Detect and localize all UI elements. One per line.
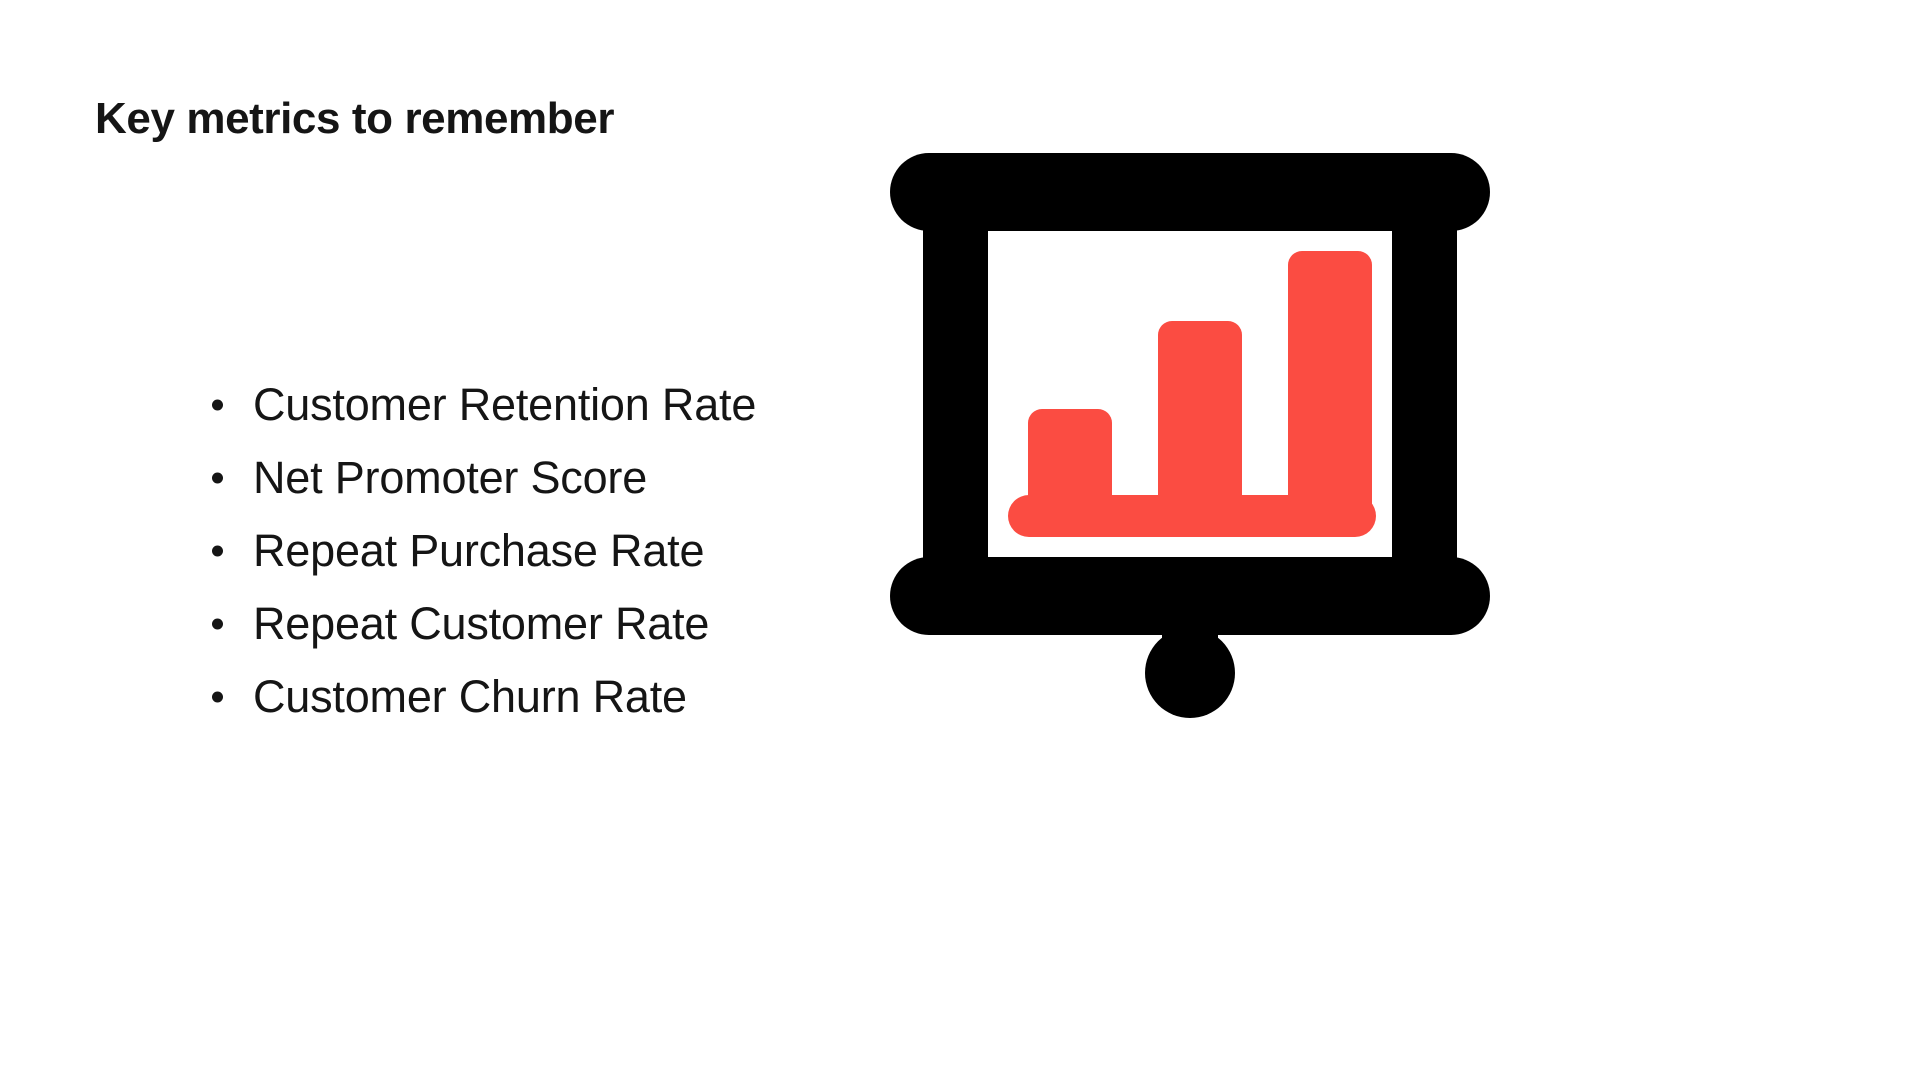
list-item-label: Repeat Customer Rate: [253, 587, 709, 660]
bullet-dot-icon: [212, 691, 223, 702]
list-item: Customer Retention Rate: [205, 368, 756, 441]
chart-bar-1: [1028, 409, 1112, 519]
screen-top-rail: [890, 153, 1490, 231]
list-item: Repeat Customer Rate: [205, 587, 756, 660]
bullet-dot-icon: [212, 472, 223, 483]
bullet-dot-icon: [212, 399, 223, 410]
list-item-label: Customer Retention Rate: [253, 368, 756, 441]
slide-canvas: Key metrics to remember Customer Retenti…: [0, 0, 1920, 1080]
page-title: Key metrics to remember: [95, 95, 614, 143]
list-item-label: Customer Churn Rate: [253, 660, 687, 733]
list-item: Customer Churn Rate: [205, 660, 756, 733]
key-metrics-list: Customer Retention Rate Net Promoter Sco…: [205, 368, 756, 733]
chart-bar-2: [1158, 321, 1242, 519]
stand-foot-knob: [1145, 628, 1235, 718]
list-item: Repeat Purchase Rate: [205, 514, 756, 587]
chart-bar-3: [1288, 251, 1372, 519]
presentation-screen-bar-chart-icon: [890, 145, 1490, 725]
list-item-label: Net Promoter Score: [253, 441, 647, 514]
list-item-label: Repeat Purchase Rate: [253, 514, 704, 587]
bullet-dot-icon: [212, 545, 223, 556]
list-item: Net Promoter Score: [205, 441, 756, 514]
bullet-dot-icon: [212, 618, 223, 629]
